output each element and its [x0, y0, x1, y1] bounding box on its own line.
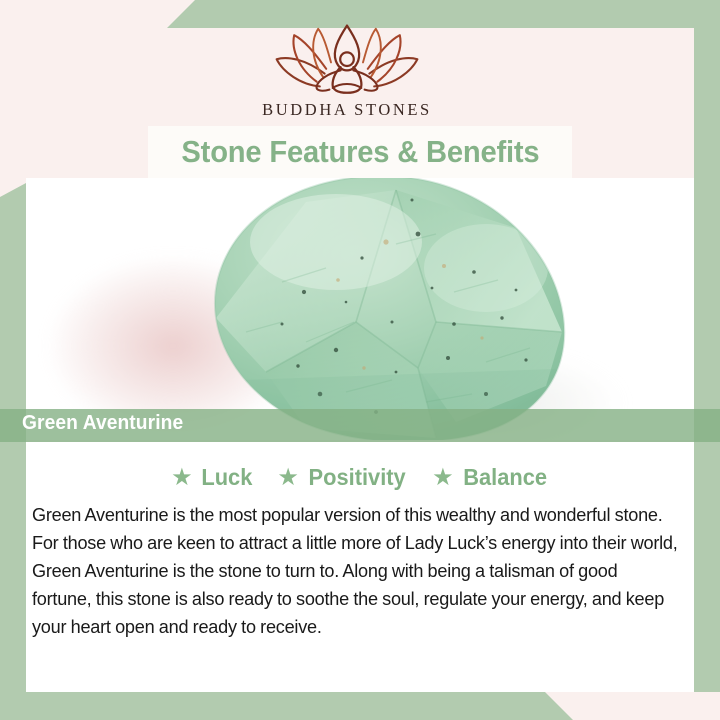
title-banner: Stone Features & Benefits [148, 126, 572, 178]
product-label: Green Aventurine [22, 412, 183, 435]
star-icon: ★ [171, 466, 193, 490]
brand-name: BUDDHA STONES [262, 100, 432, 120]
infographic-card: BUDDHA STONES Stone Features & Benefits [0, 0, 720, 720]
benefit-item-balance: ★ Balance [432, 464, 549, 491]
brand-logo: BUDDHA STONES [0, 24, 694, 120]
star-icon: ★ [277, 466, 299, 490]
lotus-meditation-figure-icon [267, 24, 427, 96]
description-section: ★ Luck ★ Positivity ★ Balance Green Aven… [26, 442, 694, 692]
benefit-label-positivity: Positivity [308, 464, 405, 491]
description-text: Green Aventurine is the most popular ver… [32, 501, 678, 641]
benefit-item-positivity: ★ Positivity [277, 464, 408, 491]
benefit-label-balance: Balance [463, 464, 547, 491]
benefits-row: ★ Luck ★ Positivity ★ Balance [26, 442, 694, 491]
frame-border-left [0, 183, 26, 720]
product-photo [26, 178, 694, 440]
benefit-item-luck: ★ Luck [171, 464, 253, 491]
bottom-background-accent [570, 692, 720, 720]
star-icon: ★ [432, 466, 454, 490]
benefit-label-luck: Luck [201, 464, 252, 491]
page-title: Stone Features & Benefits [181, 134, 539, 170]
frame-border-right [694, 0, 720, 720]
green-aventurine-stone-image [186, 178, 582, 440]
